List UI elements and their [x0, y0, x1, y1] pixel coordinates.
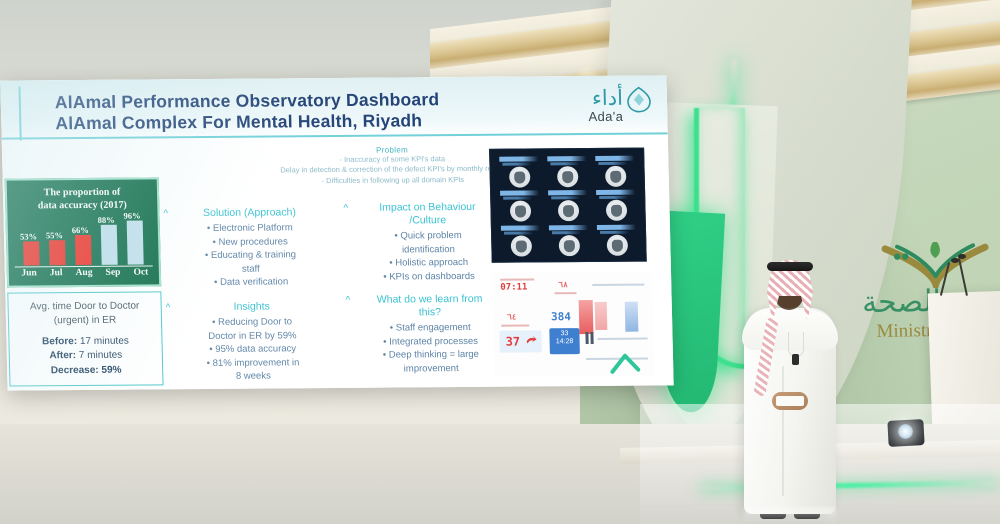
portrait-name-line — [499, 156, 538, 161]
list-item: KPIs on dashboards — [353, 269, 505, 284]
data-accuracy-bar-chart: The proportion of data accuracy (2017) 5… — [5, 177, 162, 287]
crossed-swords-palm-icon — [879, 241, 992, 289]
list-item: Educating & training — [170, 248, 330, 263]
portrait-role-line — [598, 162, 627, 165]
insights-section: ^ Insights Reducing Door to Doctor in ER… — [172, 300, 334, 384]
dd-before-value: 17 minutes — [80, 336, 129, 347]
kpi-tiles-dashboard: 07:11 ٦٨ ٦٤ 384 37 33 14:28 — [492, 272, 654, 377]
portrait-grid — [496, 155, 639, 256]
kpi-discharge-value: 37 — [505, 335, 520, 349]
impact-caret-icon: ^ — [343, 203, 348, 214]
portrait-name-line — [500, 191, 539, 196]
kpi-tile-blue-num: 33 — [549, 328, 579, 338]
chart-bar — [23, 241, 40, 265]
kpi-tile-blue-time: 14:28 — [550, 338, 580, 346]
learn-heading-line2: this? — [419, 306, 441, 318]
portrait-role-line — [600, 230, 629, 233]
dd-heading-line2: (urgent) in ER — [54, 314, 117, 325]
kpi-label-line — [501, 324, 529, 326]
held-notes — [776, 396, 804, 406]
arrow-right-icon — [525, 334, 537, 346]
list-item: Reducing Door to — [172, 315, 332, 330]
speaker-presenter — [736, 246, 844, 524]
dd-decrease-label: Decrease: — [51, 365, 99, 376]
impact-heading-line2: /Culture — [409, 214, 446, 226]
list-item: Integrated processes — [354, 334, 506, 349]
learn-caret-icon: ^ — [345, 295, 350, 306]
portrait-cell — [592, 155, 638, 187]
kpi-arabic-value: ٦٤ — [507, 313, 517, 322]
solution-heading: Solution (Approach) — [169, 206, 329, 220]
avatar — [510, 235, 531, 256]
learn-bullets: Staff engagement Integrated processes De… — [354, 321, 507, 376]
list-item: New procedures — [170, 235, 330, 250]
portrait-role-line — [599, 196, 628, 199]
list-item: Quick problem — [352, 229, 504, 244]
impact-bullets: Quick problem identification Holistic ap… — [352, 229, 505, 284]
kpi-bar-mini — [590, 332, 593, 344]
igal-cord — [767, 262, 813, 271]
portrait-cell — [496, 155, 542, 187]
name-badge — [792, 354, 799, 365]
avatar — [558, 235, 579, 256]
avatar — [557, 200, 578, 221]
portrait-name-line — [547, 156, 586, 161]
leadership-portraits-dashboard — [489, 148, 647, 263]
list-item: Holistic approach — [353, 256, 505, 271]
list-item: 8 weeks — [173, 369, 333, 384]
list-item: identification — [352, 242, 504, 257]
kpi-time-value: 07:11 — [500, 283, 527, 293]
list-item: staff — [171, 262, 331, 277]
solution-section: ^ Solution (Approach) Electronic Platfor… — [169, 206, 331, 290]
chart-bar-label: 96% — [123, 211, 140, 221]
chevron-up-icon — [610, 350, 641, 374]
list-item: 81% improvement in — [173, 356, 333, 371]
portrait-role-line — [550, 162, 579, 165]
chart-bar-label: 53% — [20, 231, 37, 241]
adaa-latin-text: Ada'a — [588, 109, 623, 124]
spotlight-lens-icon — [898, 424, 913, 439]
avatar — [509, 201, 530, 222]
door-to-doctor-heading: Avg. time Door to Doctor (urgent) in ER — [9, 299, 162, 327]
projection-screen[interactable]: AlAmal Performance Observatory Dashboard… — [0, 75, 673, 390]
dd-before-label: Before: — [42, 336, 77, 347]
dd-decrease-value: 59% — [101, 365, 121, 376]
list-item: Staff engagement — [354, 321, 506, 336]
chart-x-tick-labels: JunJulAugSepOct — [15, 267, 155, 278]
thobe-fold — [782, 366, 784, 496]
portrait-cell — [593, 189, 639, 221]
presentation-slide: AlAmal Performance Observatory Dashboard… — [0, 75, 673, 390]
kpi-count-value: 384 — [551, 310, 571, 323]
microphone-head-icon — [951, 258, 959, 263]
portrait-role-line — [504, 231, 533, 234]
kpi-tile-blue: 33 14:28 — [549, 328, 580, 354]
avatar — [556, 166, 577, 187]
learn-heading: What do we learn from this? — [353, 293, 506, 320]
impact-section: ^ Impact on Behaviour /Culture Quick pro… — [351, 201, 505, 284]
chart-bar — [49, 240, 66, 265]
chart-bar-label: 66% — [72, 225, 89, 235]
slide-title-line1: AlAmal Performance Observatory Dashboard — [55, 89, 440, 113]
portrait-role-line — [502, 162, 531, 165]
list-item: Doctor in ER by 59% — [172, 329, 332, 344]
chart-x-label: Jun — [21, 268, 37, 278]
portrait-role-line — [552, 231, 581, 234]
portrait-role-line — [551, 196, 580, 199]
learn-heading-line1: What do we learn from — [377, 293, 483, 306]
slide-title-line2: AlAmal Complex For Mental Health, Riyadh — [55, 110, 422, 134]
solution-caret-icon: ^ — [163, 208, 168, 219]
portrait-name-line — [548, 190, 587, 195]
chart-x-label: Oct — [133, 267, 148, 277]
portrait-cell — [545, 189, 591, 221]
insights-heading: Insights — [172, 300, 332, 314]
portrait-name-line — [501, 225, 540, 230]
kpi-bar-blue — [625, 302, 639, 332]
adaa-logo: أداء Ada'a — [561, 84, 654, 131]
avatar — [606, 234, 627, 255]
chart-bar — [75, 235, 92, 265]
kpi-label-line — [500, 278, 534, 280]
chart-x-label: Sep — [106, 268, 121, 278]
list-item: Deep thinking = large — [355, 348, 507, 363]
chart-bar-label: 88% — [98, 215, 115, 225]
chart-x-label: Aug — [76, 268, 93, 278]
chart-title-line2: data accuracy (2017) — [38, 200, 127, 212]
chart-title-line1: The proportion of — [44, 187, 121, 199]
dd-after-value: 7 minutes — [79, 350, 123, 361]
kpi-trend-line — [598, 338, 648, 340]
avatar — [604, 166, 625, 187]
chart-bar — [127, 221, 144, 265]
kpi-bar-mini — [585, 332, 588, 344]
kpi-bar-red — [579, 300, 594, 334]
door-to-doctor-card: Avg. time Door to Doctor (urgent) in ER … — [7, 291, 163, 386]
list-item: 95% data accuracy — [173, 342, 333, 357]
adaa-diamond-icon — [625, 86, 654, 114]
insights-caret-icon: ^ — [166, 302, 171, 313]
portrait-name-line — [596, 190, 635, 195]
door-to-doctor-times: Before: 17 minutes After: 7 minutes — [9, 334, 162, 363]
solution-bullets: Electronic Platform New procedures Educa… — [170, 221, 332, 290]
chart-x-label: Jul — [50, 268, 63, 278]
portrait-cell — [497, 190, 543, 222]
portrait-cell — [546, 224, 592, 256]
presentation-scene: الصحة Ministry AlAm — [0, 0, 1000, 524]
chart-bar-label: 55% — [46, 230, 63, 240]
kpi-label-line — [554, 292, 576, 294]
learn-section: ^ What do we learn from this? Staff enga… — [353, 293, 507, 376]
list-item: Electronic Platform — [170, 221, 330, 236]
portrait-cell — [544, 155, 590, 187]
kpi-bar-red — [595, 302, 608, 330]
portrait-cell — [594, 223, 640, 255]
impact-heading: Impact on Behaviour /Culture — [351, 201, 504, 228]
dd-after-label: After: — [49, 350, 76, 361]
door-to-doctor-decrease: Decrease: 59% — [10, 364, 162, 376]
portrait-name-line — [597, 224, 636, 229]
insights-bullets: Reducing Door to Doctor in ER by 59% 95%… — [172, 315, 334, 384]
list-item: improvement — [355, 361, 507, 376]
portrait-name-line — [549, 225, 588, 230]
avatar — [508, 166, 529, 187]
chart-bar — [101, 225, 118, 265]
portrait-role-line — [503, 197, 532, 200]
chart-plot-area: 53%55%66%88%96% — [18, 219, 149, 265]
impact-heading-line1: Impact on Behaviour — [379, 201, 476, 214]
speaker-floor-reflection — [744, 508, 836, 524]
microphone-head-icon — [958, 254, 966, 259]
adaa-arabic-text: أداء — [592, 86, 623, 110]
kpi-label-line — [592, 284, 644, 286]
kpi-arabic-value: ٦٨ — [558, 280, 568, 289]
chart-title: The proportion of data accuracy (2017) — [7, 185, 158, 212]
portrait-name-line — [595, 156, 634, 161]
list-item: Data verification — [171, 275, 331, 290]
portrait-cell — [498, 224, 544, 256]
dd-heading-line1: Avg. time Door to Doctor — [30, 301, 140, 313]
avatar — [605, 200, 626, 221]
